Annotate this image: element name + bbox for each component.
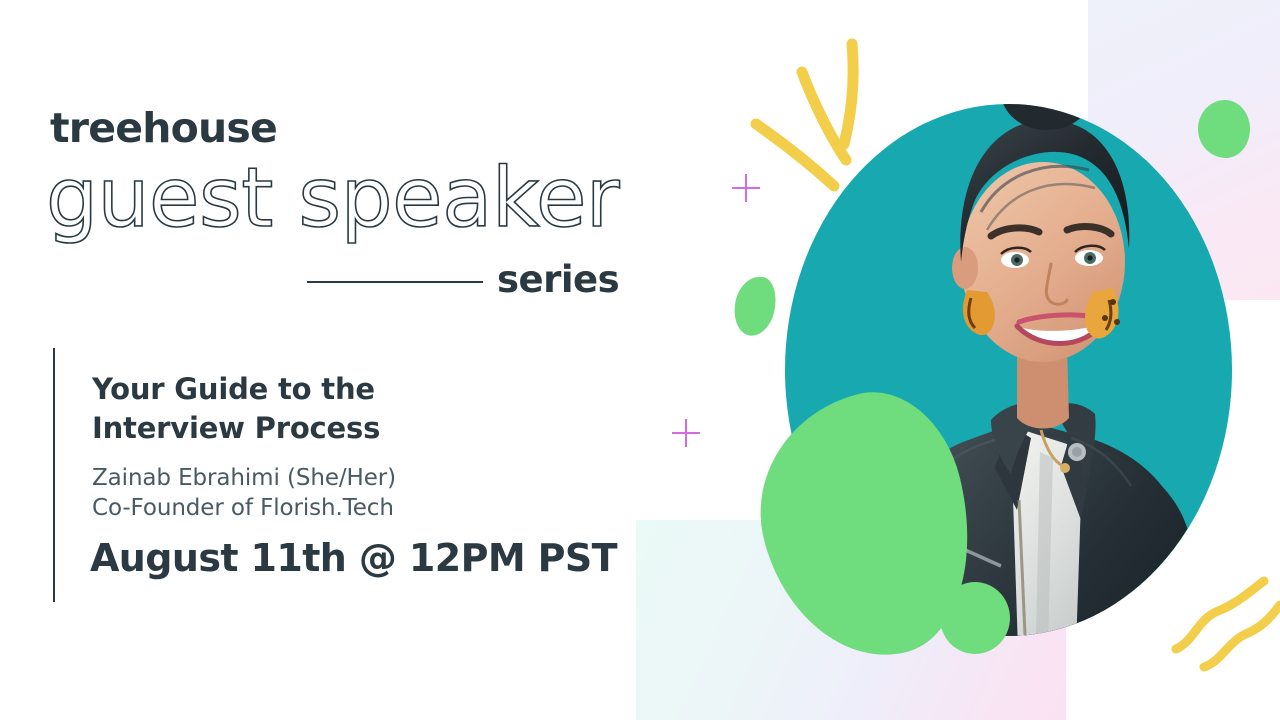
speaker-name: Zainab Ebrahimi (She/Her) bbox=[92, 462, 396, 495]
series-divider-rule bbox=[307, 281, 483, 283]
event-datetime: August 11th @ 12PM PST bbox=[90, 536, 617, 582]
headline-outline-text: guest speaker bbox=[46, 158, 619, 240]
slide-canvas: treehouse guest speaker series Your Guid… bbox=[0, 0, 1280, 720]
vertical-accent-rule bbox=[53, 348, 55, 602]
series-row: series bbox=[50, 258, 630, 306]
green-circle-dot bbox=[940, 582, 1010, 654]
speaker-role: Co-Founder of Florish.Tech bbox=[92, 492, 394, 525]
talk-title-line-1: Your Guide to the bbox=[92, 370, 552, 409]
yellow-sparkle-dashes-icon bbox=[740, 28, 880, 213]
talk-title-line-2: Interview Process bbox=[92, 409, 552, 448]
magenta-plus-icon-lower bbox=[672, 419, 700, 447]
series-label: series bbox=[497, 258, 619, 302]
yellow-wavy-lines-icon bbox=[1168, 575, 1280, 675]
brand-wordmark: treehouse bbox=[50, 108, 277, 149]
green-oval-blob bbox=[729, 272, 781, 339]
talk-title: Your Guide to the Interview Process bbox=[92, 370, 552, 447]
decorative-art-panel bbox=[620, 0, 1280, 720]
